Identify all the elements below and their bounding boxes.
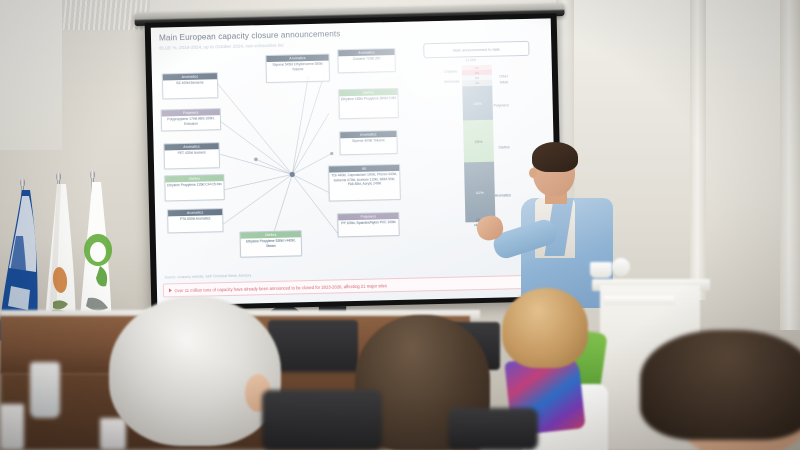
chart-label-polymers: Polymers	[494, 103, 509, 107]
diagram-node: Aromatics BZ 400kt Benzene	[162, 72, 219, 99]
presenter-hair	[532, 142, 578, 172]
screenshot-stage: OE Main European capacity closure announ…	[0, 0, 800, 450]
node-body: Styrene 400kt Toluene	[340, 137, 396, 145]
chart-label-mma: MMA	[500, 80, 508, 84]
node-body: BZ 400kt Benzene	[163, 79, 217, 87]
diagram-node: Aromatics PET 420kt Isomers	[163, 142, 220, 169]
diagram-node: Olefins Ethylene Propylene 530kt I-442kt…	[240, 230, 303, 257]
wall-column-right	[780, 0, 800, 330]
diagram-node: All TDI 440kt, Caprolactam 190kt, Phenol…	[328, 164, 401, 202]
diagram-node: Polymers Polypropylene 170kt ABS 100kt, …	[161, 108, 222, 131]
diagram-node: Aromatics PTA 530kt Aromatics	[167, 208, 224, 233]
bar-segment-polymers: 20%	[462, 86, 493, 121]
chart-title: Main announcement to date	[423, 41, 529, 58]
water-pitcher[interactable]	[30, 362, 60, 418]
chart-unit-label: x1.5Mt	[466, 58, 476, 62]
node-body: Polypropylene 170kt ABS 100kt, Extrusion	[162, 115, 220, 128]
cup[interactable]	[590, 262, 612, 278]
audience-grey-hair	[109, 296, 281, 446]
podium-shelf	[604, 296, 674, 305]
presenter-ear	[529, 168, 537, 178]
audience-right-hair	[640, 330, 800, 440]
slide-source: Source: company website, S&P Chemical We…	[165, 273, 252, 279]
node-body: Ethylene 185kt Propylene 260kt C4Kt	[339, 95, 397, 103]
chart-label-chlorine: Chlorine	[444, 70, 457, 74]
diagram-node: Olefins Ethylene Propylene 115kt C4+C5 m…	[164, 174, 225, 201]
node-body: Ethylene Propylene 530kt I-442kt, Steam	[241, 237, 301, 250]
bar-segment-olefins: 25%	[463, 120, 494, 163]
chair[interactable]	[262, 390, 382, 450]
diagram-node: Polymers PP 100kt, Spandex/Nylon PVC 100…	[337, 212, 400, 237]
window-light-panel	[0, 0, 62, 150]
node-body: PET 420kt Isomers	[165, 149, 219, 157]
node-body: PP 100kt, Spandex/Nylon PVC 100kt	[338, 219, 398, 227]
audience-scarf-hair	[502, 288, 588, 368]
stacked-bar: 2% 3% 3% 3% 20% 25% 41%	[462, 65, 496, 223]
triangle-bullet-icon	[169, 288, 172, 292]
cup[interactable]	[612, 258, 630, 276]
bar-segment-aromatics: 41%	[464, 162, 495, 223]
water-glass[interactable]	[0, 404, 24, 450]
diagram-node: Aromatics Styrene 400kt Toluene	[339, 130, 398, 155]
capacity-closure-diagram: Aromatics BZ 400kt Benzene Polymers Poly…	[157, 46, 410, 262]
audience-right	[640, 330, 800, 450]
wall-column-mid	[690, 0, 706, 300]
screen-surface: Main European capacity closure announcem…	[151, 18, 557, 305]
slide-content: Main European capacity closure announcem…	[151, 18, 557, 305]
chart-label-other: Other	[499, 74, 508, 78]
chart-label-ammonia: Ammonia	[444, 79, 459, 83]
node-body: TDI 440kt, Caprolactam 190kt, Phenol 440…	[329, 171, 399, 189]
node-body: Ethylene Propylene 115kt C4+C5 mix	[165, 181, 223, 189]
chair[interactable]	[448, 408, 538, 450]
diagram-node: Olefins Ethylene 185kt Propylene 260kt C…	[338, 88, 399, 119]
node-body: Cumene 720kt ZKt	[338, 55, 394, 63]
node-body: Styrene 545kt Ethylbenzene 580kt Toluene	[267, 61, 329, 74]
projector-screen[interactable]: Main European capacity closure announcem…	[145, 13, 564, 313]
node-body: PTA 530kt Aromatics	[168, 215, 222, 223]
banner-text: Over 11 million tons of capacity have al…	[174, 283, 387, 293]
diagram-node: Aromatics Cumene 720kt ZKt	[337, 48, 396, 73]
diagram-node: Aromatics Styrene 545kt Ethylbenzene 580…	[265, 54, 330, 84]
